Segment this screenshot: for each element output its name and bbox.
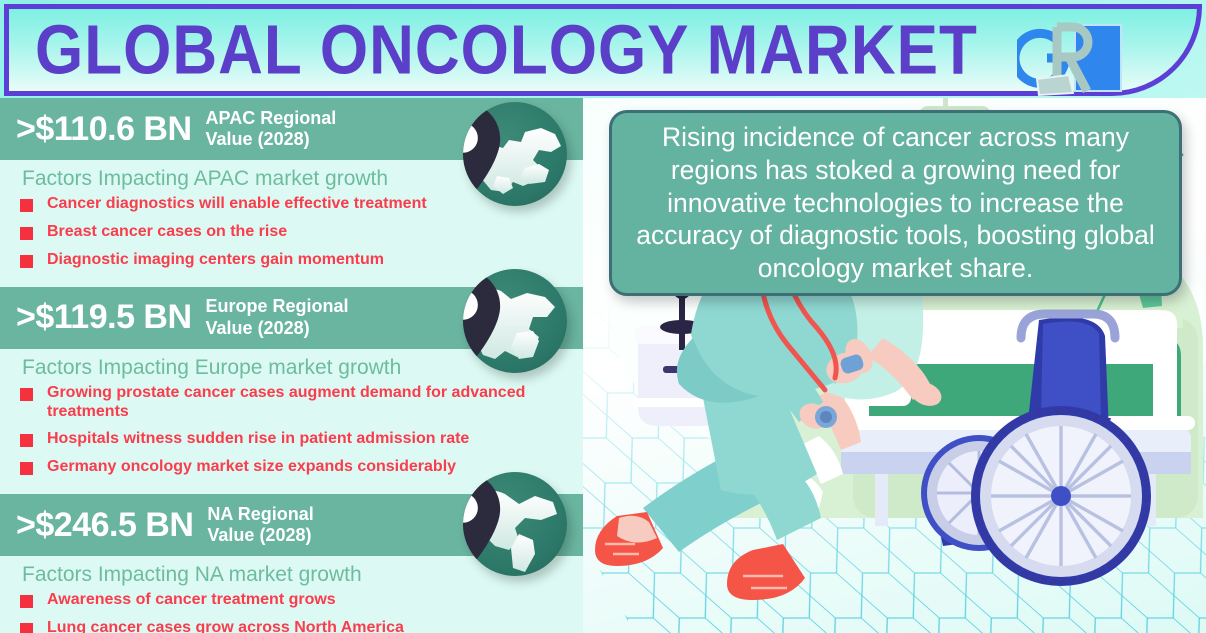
bullet-square-icon [20, 255, 33, 268]
factor-text: Cancer diagnostics will enable effective… [47, 195, 427, 214]
region-block-europe: >$119.5 BN Europe Regional Value (2028) … [0, 287, 583, 495]
infographic-canvas: GLOBAL ONCOLOGY MARKET >$110.6 BN APAC R… [0, 0, 1206, 633]
globe-na-icon [463, 472, 567, 576]
region-value: >$246.5 BN [16, 506, 193, 545]
map-pin-icon [463, 102, 515, 206]
factor-text: Growing prostate cancer cases augment de… [47, 384, 567, 422]
region-value: >$110.6 BN [16, 110, 192, 149]
summary-text: Rising incidence of cancer across many r… [628, 121, 1163, 285]
list-item: Diagnostic imaging centers gain momentum [14, 251, 583, 270]
globe-apac-icon [463, 102, 567, 206]
list-item: Breast cancer cases on the rise [14, 223, 583, 242]
globe-europe-icon [463, 269, 567, 373]
factor-text: Breast cancer cases on the rise [47, 223, 287, 242]
factor-text: Germany oncology market size expands con… [47, 458, 456, 477]
gr-logo [1017, 17, 1135, 99]
header-bar: GLOBAL ONCOLOGY MARKET [4, 4, 1202, 96]
map-pin-icon [463, 472, 515, 576]
map-pin-icon [463, 269, 515, 373]
factor-text: Awareness of cancer treatment grows [47, 591, 336, 610]
list-item: Growing prostate cancer cases augment de… [14, 384, 583, 422]
region-label: APAC Regional Value (2028) [206, 108, 337, 150]
factor-text: Diagnostic imaging centers gain momentum [47, 251, 384, 270]
list-item: Awareness of cancer treatment grows [14, 591, 583, 610]
list-item: Lung cancer cases grow across North Amer… [14, 619, 583, 633]
bullet-square-icon [20, 434, 33, 447]
bullet-square-icon [20, 199, 33, 212]
bullet-square-icon [20, 227, 33, 240]
regional-values-panel: >$110.6 BN APAC Regional Value (2028) [0, 98, 583, 633]
region-label: NA Regional Value (2028) [207, 504, 313, 546]
illustration-panel: Rising incidence of cancer across many r… [583, 98, 1206, 633]
factor-text: Hospitals witness sudden rise in patient… [47, 430, 469, 449]
page-title: GLOBAL ONCOLOGY MARKET [35, 10, 978, 90]
bullet-square-icon [20, 388, 33, 401]
bullet-square-icon [20, 595, 33, 608]
factor-text: Lung cancer cases grow across North Amer… [47, 619, 404, 633]
bullet-square-icon [20, 462, 33, 475]
list-item: Hospitals witness sudden rise in patient… [14, 430, 583, 449]
region-value: >$119.5 BN [16, 298, 192, 337]
factors-list-na: Awareness of cancer treatment grows Lung… [0, 591, 583, 633]
bullet-square-icon [20, 623, 33, 633]
region-block-na: >$246.5 BN NA Regional Value (2028) Fact… [0, 494, 583, 633]
region-label: Europe Regional Value (2028) [206, 296, 349, 338]
summary-callout: Rising incidence of cancer across many r… [609, 110, 1182, 296]
region-block-apac: >$110.6 BN APAC Regional Value (2028) [0, 98, 583, 287]
